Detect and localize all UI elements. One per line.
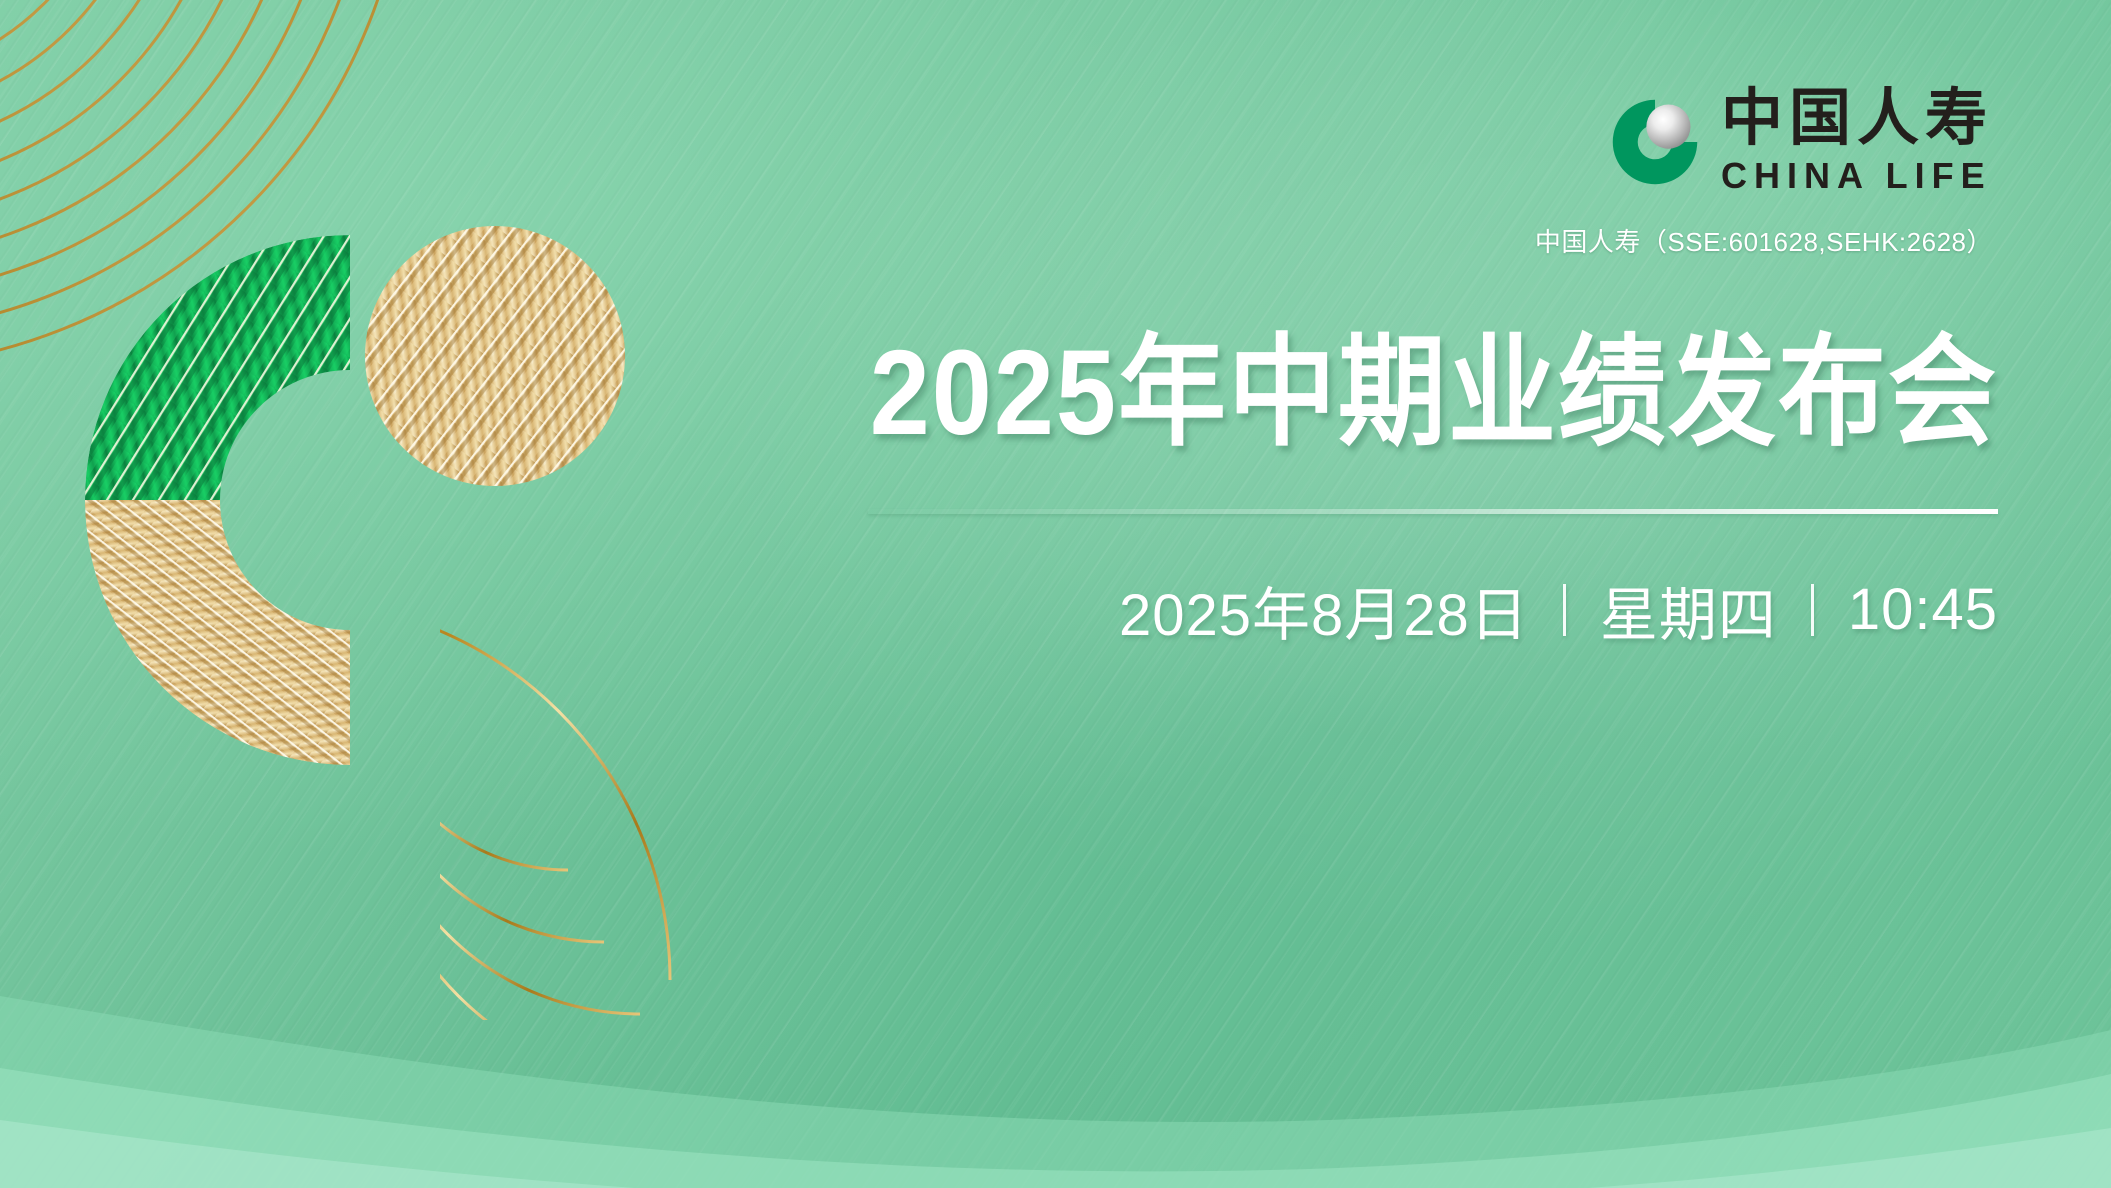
page-title: 2025年中期业绩发布会 bbox=[868, 325, 1998, 460]
event-meta-row: 2025年8月28日 星期四 10:45 bbox=[868, 568, 1998, 652]
china-life-c-sphere-logo-icon bbox=[1607, 94, 1703, 190]
brand-logo-block: 中国人寿 CHINA LIFE 中国人寿（SSE:601628,SEHK:262… bbox=[1535, 88, 1993, 259]
gold-textured-circle-icon bbox=[365, 226, 625, 486]
title-block: 2025年中期业绩发布会 2025年8月28日 星期四 10:45 bbox=[868, 340, 1998, 652]
event-time: 10:45 bbox=[1848, 576, 1998, 643]
background-wave-icon bbox=[0, 768, 2111, 1188]
presentation-slide: 中国人寿 CHINA LIFE 中国人寿（SSE:601628,SEHK:262… bbox=[0, 0, 2111, 1188]
meta-separator bbox=[1811, 584, 1814, 636]
concentric-gold-arcs-icon bbox=[440, 600, 860, 1020]
meta-separator bbox=[1563, 584, 1566, 636]
logo-name-en: CHINA LIFE bbox=[1721, 156, 1992, 196]
event-date: 2025年8月28日 bbox=[1119, 568, 1529, 652]
title-divider bbox=[868, 509, 1998, 514]
logo-row: 中国人寿 CHINA LIFE bbox=[1607, 88, 1993, 196]
logo-wordmark: 中国人寿 CHINA LIFE bbox=[1721, 88, 1993, 196]
logo-name-cn: 中国人寿 bbox=[1721, 88, 1993, 150]
stock-listing-line: 中国人寿（SSE:601628,SEHK:2628） bbox=[1535, 222, 1993, 259]
event-weekday: 星期四 bbox=[1600, 568, 1777, 652]
